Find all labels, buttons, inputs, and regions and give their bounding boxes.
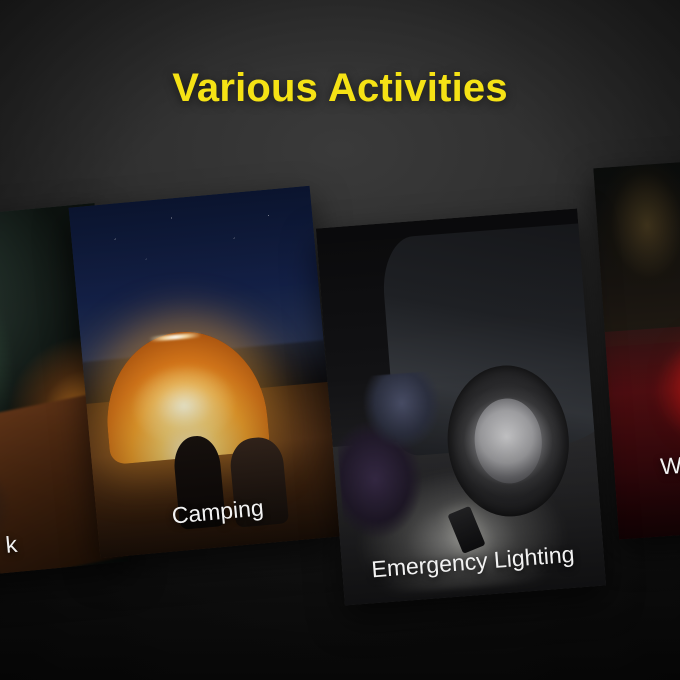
page-title: Various Activities: [0, 66, 680, 111]
activity-card-camping[interactable]: Camping: [69, 186, 342, 558]
activity-card-emergency-lighting[interactable]: Emergency Lighting: [316, 209, 606, 606]
activities-banner: k Camping Emergency Lighting: [0, 0, 680, 680]
